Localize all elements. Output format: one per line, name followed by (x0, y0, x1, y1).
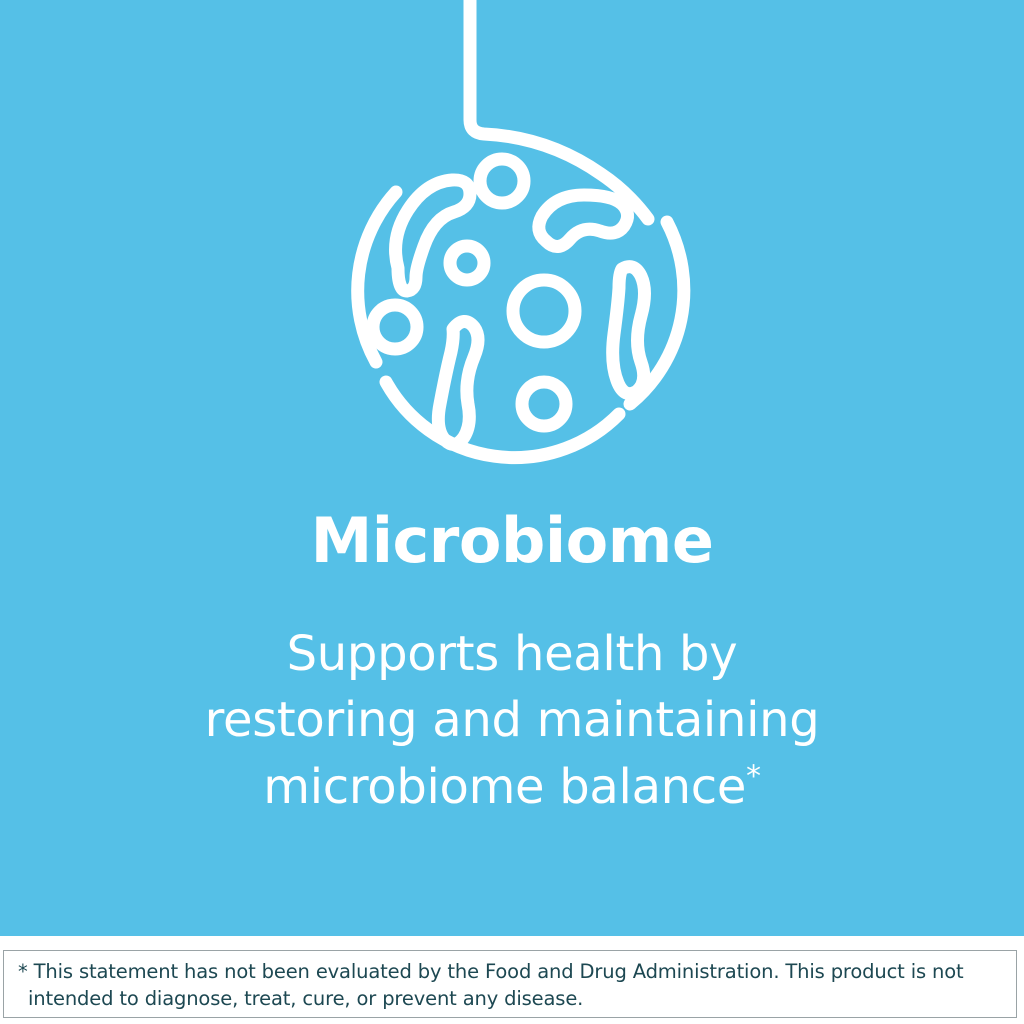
subtitle-line-1: Supports health by (287, 626, 738, 682)
hero-panel: Microbiome Supports health by restoring … (0, 0, 1024, 936)
text-block: Microbiome Supports health by restoring … (0, 508, 1024, 820)
disclaimer-text: * This statement has not been evaluated … (18, 959, 1002, 1013)
icon-container (0, 0, 1024, 500)
subtitle-line-3: microbiome balance (263, 759, 746, 815)
page-title: Microbiome (0, 508, 1024, 573)
subtitle-asterisk: * (746, 759, 761, 794)
microbiome-petri-dish-icon (312, 0, 712, 500)
disclaimer-box: * This statement has not been evaluated … (3, 950, 1017, 1018)
subtitle-line-2: restoring and maintaining (205, 692, 820, 748)
subtitle: Supports health by restoring and maintai… (0, 621, 1024, 820)
microbiome-benefit-card: Microbiome Supports health by restoring … (0, 0, 1024, 1024)
